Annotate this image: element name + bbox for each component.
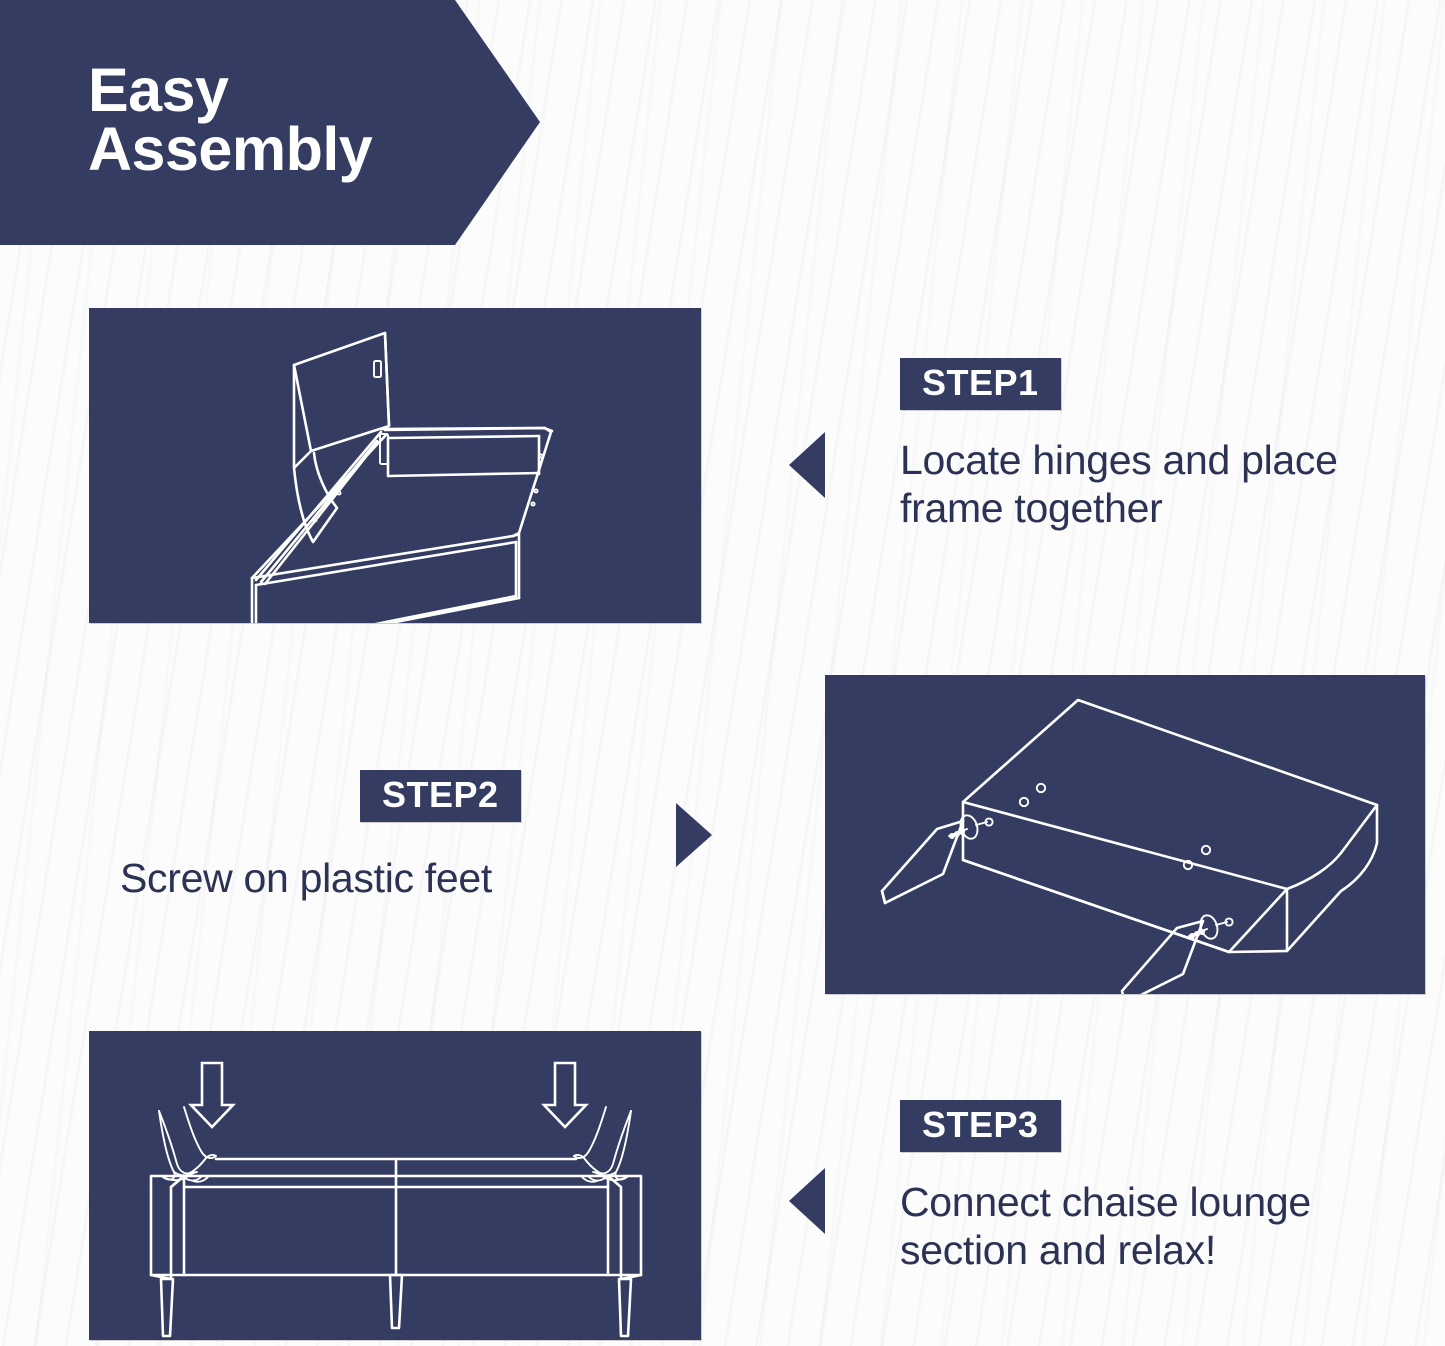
step1-badge-wrap: STEP1	[900, 358, 1430, 410]
step2-badge: STEP2	[360, 770, 521, 822]
title-banner: Easy Assembly	[0, 0, 540, 245]
arrow-right-icon-step2	[676, 803, 712, 867]
step2-illustration-panel	[825, 675, 1425, 994]
step3-badge: STEP3	[900, 1100, 1061, 1152]
step2-text-block: STEP2 Screw on plastic feet	[120, 770, 665, 902]
step2-description: Screw on plastic feet	[120, 854, 665, 902]
sofa-press-down-with-hands-diagram	[89, 1031, 701, 1340]
step1-badge: STEP1	[900, 358, 1061, 410]
easy-assembly-infographic: Easy Assembly	[0, 0, 1445, 1346]
step1-description: Locate hinges and place frame together	[900, 436, 1430, 533]
step3-badge-wrap: STEP3	[900, 1100, 1420, 1152]
bed-frame-with-headboard-diagram	[89, 308, 701, 623]
step2-badge-wrap: STEP2	[120, 770, 665, 822]
step3-text-block: STEP3 Connect chaise lounge section and …	[900, 1100, 1420, 1275]
step1-text-block: STEP1 Locate hinges and place frame toge…	[900, 358, 1430, 533]
step3-illustration-panel	[89, 1031, 701, 1340]
sofa-base-with-plastic-feet-diagram	[825, 675, 1425, 994]
title-line-assembly: Assembly	[88, 120, 540, 179]
step3-description: Connect chaise lounge section and relax!	[900, 1178, 1420, 1275]
title-line-easy: Easy	[88, 61, 540, 120]
step1-illustration-panel	[89, 308, 701, 623]
arrow-left-icon-step1	[789, 432, 825, 498]
arrow-left-icon-step3	[789, 1168, 825, 1234]
